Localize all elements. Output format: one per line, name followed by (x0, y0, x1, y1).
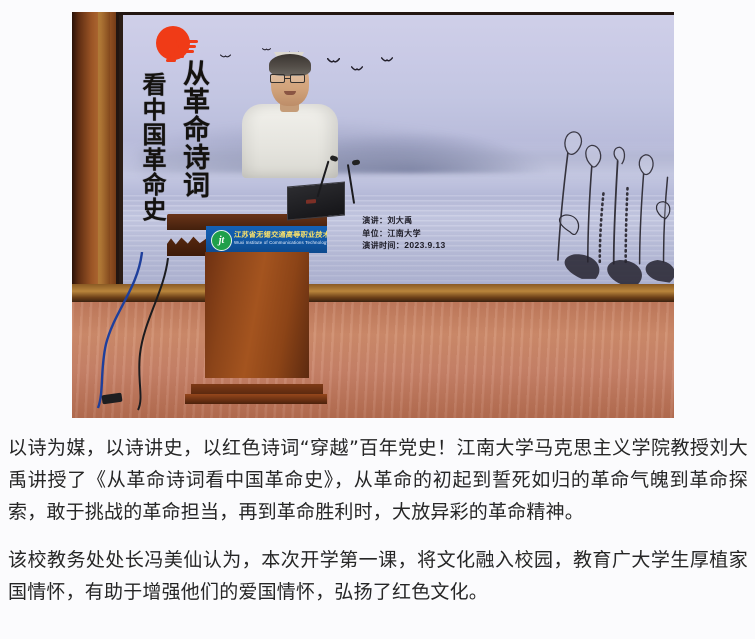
speaker-person (242, 50, 338, 178)
slide-title-main: 从革命诗词 (174, 59, 213, 199)
laptop (287, 181, 345, 220)
slide-title-sub: 看中国革命史 (135, 72, 170, 222)
bird-icon (351, 66, 363, 72)
podium: jt 江苏省无锡交通高等职业技术学校 Wuxi Institute of Com… (167, 214, 327, 404)
speaker-hair (269, 54, 311, 76)
bird-icon (381, 57, 393, 63)
podium-school-name-cn: 江苏省无锡交通高等职业技术学校 (233, 230, 327, 240)
lecture-photo: 从革命诗词 看中国革命史 演讲：刘大禹 单位：江南大学 演讲时间：2023.9.… (72, 12, 674, 418)
school-logo-icon: jt (211, 230, 232, 251)
podium-school-name-en: Wuxi Institute of Communications Technol… (234, 240, 327, 245)
bird-icon (220, 54, 231, 59)
article-body: 以诗为媒，以诗讲史，以红色诗词“穿越”百年党史！江南大学马克思主义学院教授刘大禹… (8, 432, 748, 608)
page-root: 从革命诗词 看中国革命史 演讲：刘大禹 单位：江南大学 演讲时间：2023.9.… (0, 0, 755, 639)
podium-side-panel (167, 234, 207, 256)
glasses-icon (270, 74, 310, 83)
speaker-shirt (242, 104, 338, 178)
slide-speaker-info: 演讲：刘大禹 单位：江南大学 演讲时间：2023.9.13 (362, 214, 445, 252)
slide-date-value: 2023.9.13 (404, 240, 445, 250)
slide-affiliation-line: 单位：江南大学 (362, 227, 445, 239)
lotus-ink-painting (530, 119, 674, 288)
slide-date-label: 演讲时间： (362, 240, 404, 250)
podium-banner: jt 江苏省无锡交通高等职业技术学校 Wuxi Institute of Com… (206, 226, 327, 253)
paragraph-1: 以诗为媒，以诗讲史，以红色诗词“穿越”百年党史！江南大学马克思主义学院教授刘大禹… (8, 432, 748, 528)
slide-speaker-line: 演讲：刘大禹 (362, 214, 445, 226)
podium-base-lower (185, 394, 327, 404)
podium-body (205, 252, 309, 378)
slide-date-line: 演讲时间：2023.9.13 (362, 239, 445, 252)
slide-title: 从革命诗词 看中国革命史 (135, 59, 213, 222)
paragraph-2: 该校教务处处长冯美仙认为，本次开学第一课，将文化融入校园，教育广大学生厚植家国情… (8, 544, 748, 608)
